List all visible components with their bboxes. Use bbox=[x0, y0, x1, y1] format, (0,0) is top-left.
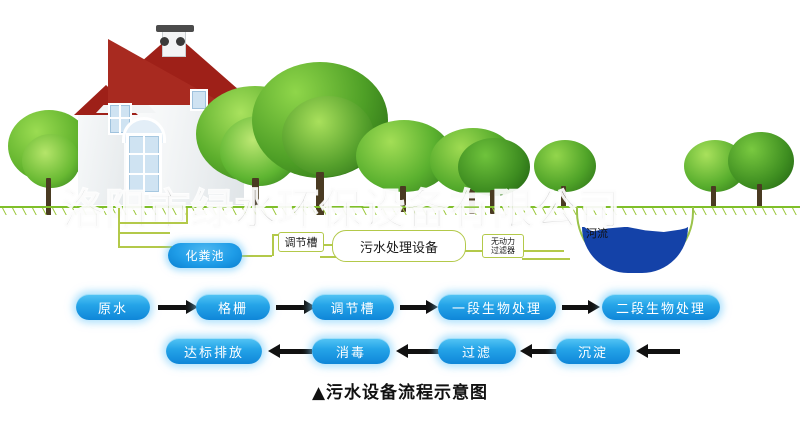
node-passive-filter-label-2: 过滤器 bbox=[491, 246, 515, 255]
pipe-drop-2 bbox=[186, 208, 188, 222]
pipe-h-3 bbox=[118, 246, 172, 248]
river-label: 河流 bbox=[586, 225, 608, 241]
flow-node-regulating-tank-label: 调节槽 bbox=[330, 298, 375, 317]
flow-arrow-2 bbox=[276, 300, 316, 314]
flow-node-bio-stage-2[interactable]: 二段生物处理 bbox=[602, 294, 720, 320]
flow-node-compliant-discharge[interactable]: 达标排放 bbox=[166, 338, 262, 364]
flow-arrow-4 bbox=[562, 300, 600, 314]
diagram-canvas: 洛阳市绿水环保设备有限公司 调节槽 污水处理设备 无动力 过滤器 bbox=[0, 0, 800, 433]
pipe-h-2 bbox=[118, 222, 188, 224]
node-regulating-tank-label: 调节槽 bbox=[285, 234, 318, 250]
flow-node-raw-water-label: 原水 bbox=[98, 298, 128, 317]
flow-node-filtration[interactable]: 过滤 bbox=[438, 338, 516, 364]
flow-arrow-5 bbox=[268, 344, 312, 358]
flow-node-bio-stage-2-label: 二段生物处理 bbox=[616, 298, 706, 317]
pipe-h-1 bbox=[118, 232, 170, 234]
node-septic-tank-label: 化粪池 bbox=[185, 247, 224, 264]
figure-caption: ▲污水设备流程示意图 bbox=[0, 378, 800, 403]
tree-mid-5 bbox=[534, 140, 596, 210]
flow-node-bio-stage-1-label: 一段生物处理 bbox=[452, 298, 542, 317]
flow-arrow-1 bbox=[158, 300, 198, 314]
flow-node-regulating-tank[interactable]: 调节槽 bbox=[312, 294, 394, 320]
flow-node-bio-stage-1[interactable]: 一段生物处理 bbox=[438, 294, 556, 320]
tree-right-2 bbox=[728, 132, 794, 210]
flow-arrow-6 bbox=[396, 344, 440, 358]
node-treatment-equipment[interactable]: 污水处理设备 bbox=[332, 230, 466, 262]
node-septic-tank[interactable]: 化粪池 bbox=[168, 243, 242, 268]
process-flow-chart: 原水 格栅 调节槽 一段生物处理 二段生物处理 达标排放 bbox=[0, 286, 800, 386]
flow-node-compliant-discharge-label: 达标排放 bbox=[184, 342, 244, 361]
flow-arrow-8 bbox=[636, 344, 680, 358]
scenery-illustration bbox=[0, 0, 800, 215]
pipe-drop-3 bbox=[118, 222, 120, 246]
flow-node-grille-label: 格栅 bbox=[218, 298, 248, 317]
pipe-septic-to-reg bbox=[238, 255, 272, 257]
node-regulating-tank[interactable]: 调节槽 bbox=[278, 232, 324, 252]
flow-node-filtration-label: 过滤 bbox=[462, 342, 492, 361]
node-passive-filter[interactable]: 无动力 过滤器 bbox=[482, 234, 524, 258]
pipe-reg-riser bbox=[272, 234, 274, 256]
flow-node-disinfection-label: 消毒 bbox=[336, 342, 366, 361]
flow-node-grille[interactable]: 格栅 bbox=[196, 294, 270, 320]
flow-arrow-3 bbox=[400, 300, 438, 314]
flow-node-disinfection[interactable]: 消毒 bbox=[312, 338, 390, 364]
tree-mid-4 bbox=[458, 138, 530, 212]
node-treatment-equipment-label: 污水处理设备 bbox=[360, 237, 438, 256]
flow-node-sedimentation[interactable]: 沉淀 bbox=[556, 338, 630, 364]
node-passive-filter-label-1: 无动力 bbox=[491, 237, 515, 246]
river-illustration: 河流 bbox=[556, 203, 696, 273]
flow-node-sedimentation-label: 沉淀 bbox=[578, 342, 608, 361]
flow-node-raw-water[interactable]: 原水 bbox=[76, 294, 150, 320]
